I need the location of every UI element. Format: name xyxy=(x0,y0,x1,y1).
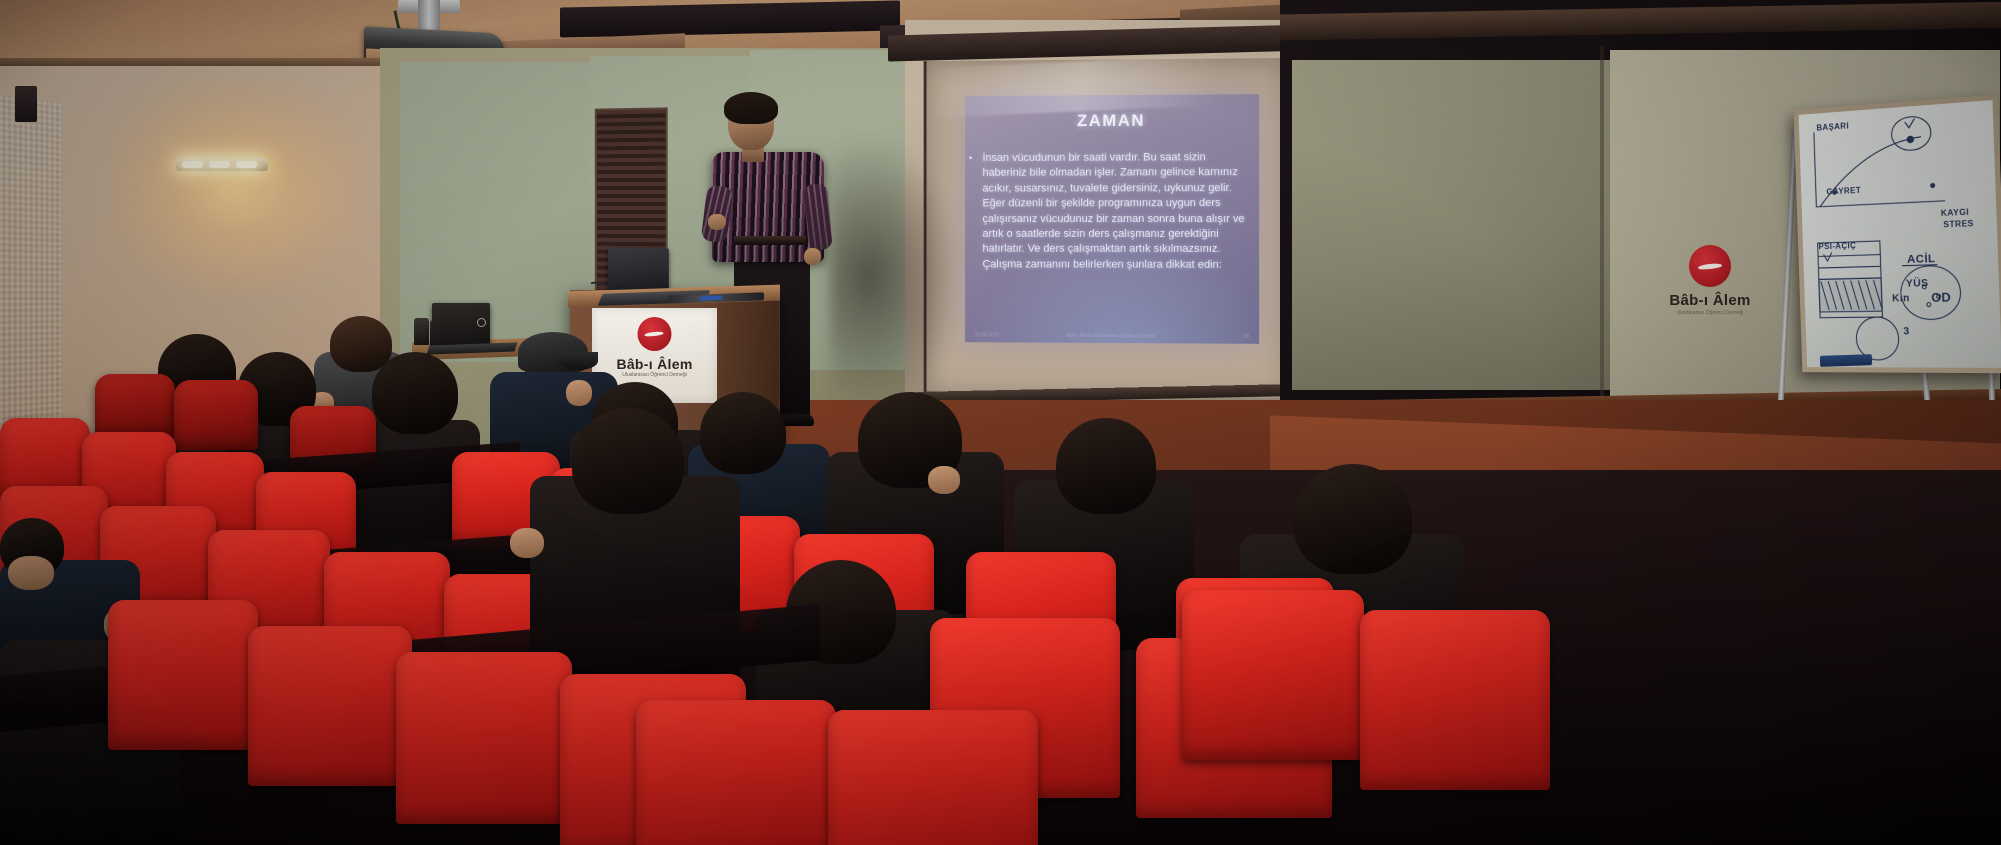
sconce-bulb-2 xyxy=(209,161,230,168)
board-label-3: 3 xyxy=(1903,326,1910,337)
amplifier-knob[interactable] xyxy=(477,318,486,327)
seat[interactable] xyxy=(396,652,572,824)
speaker-hair xyxy=(724,92,778,124)
seat[interactable] xyxy=(1182,590,1364,760)
seat[interactable] xyxy=(248,626,412,786)
speaker-shadow xyxy=(830,140,960,410)
audience-head-10 xyxy=(1056,418,1156,514)
wall-logo: Bâb-ı Âlem Uluslararası Öğrenci Derneği xyxy=(1655,245,1765,316)
wall-speaker xyxy=(15,86,37,122)
seat[interactable] xyxy=(636,700,836,845)
slide-bullet-marker: • xyxy=(969,153,972,164)
audience-hand-9 xyxy=(928,466,960,494)
mini-speaker-left xyxy=(414,318,429,345)
cap-brim-icon xyxy=(558,352,598,370)
slide-body-text: İnsan vücudunun bir saati vardır. Bu saa… xyxy=(982,150,1245,273)
wall-logo-name: Bâb-ı Âlem xyxy=(1655,292,1765,309)
wall-panel-1 xyxy=(400,62,590,362)
slide-footer-org: Bâb-ı Âlem Uluslararası Öğrenci Derneği xyxy=(1067,333,1156,339)
wall-trim-left xyxy=(0,58,400,66)
board-label-stres: STRES xyxy=(1943,219,1974,230)
bab-i-alem-mark-icon xyxy=(1689,245,1731,287)
sconce-bulb-3 xyxy=(236,161,257,168)
audience-head-11 xyxy=(1294,464,1412,574)
audience-hand-5 xyxy=(566,380,592,406)
audience-head-3 xyxy=(330,316,392,372)
wall-logo-subtitle: Uluslararası Öğrenci Derneği xyxy=(1655,310,1765,316)
sconce-glow xyxy=(110,78,365,293)
slide-page-number: 38 xyxy=(1244,334,1250,340)
wall-right-panel-1 xyxy=(1292,60,1622,390)
board-label-od: OD xyxy=(1931,290,1951,305)
slide-footer-date: 10.04.2010 xyxy=(975,332,999,338)
audience-hand-13 xyxy=(8,556,54,590)
marker-tray xyxy=(1820,354,1872,367)
podium-logo-name: Bâb-ı Âlem xyxy=(592,356,717,372)
auditorium-photo: ZAMAN • İnsan vücudunun bir saati vardır… xyxy=(0,0,2001,845)
seat[interactable] xyxy=(95,374,175,440)
board-label-acil: ACİL xyxy=(1907,253,1936,266)
board-label-gayret: GAYRET xyxy=(1826,186,1861,197)
seat[interactable] xyxy=(1360,610,1550,790)
audience-head-8 xyxy=(700,392,786,474)
seat[interactable] xyxy=(108,600,258,750)
audience-head-4 xyxy=(372,352,458,434)
board-label-yus: YÜS xyxy=(1906,278,1929,290)
board-label-kin: Kın xyxy=(1892,293,1910,305)
podium-bab-i-alem-mark-icon xyxy=(638,317,672,351)
presentation-slide: ZAMAN • İnsan vücudunun bir saati vardır… xyxy=(965,94,1259,344)
audience-hand-7 xyxy=(510,528,544,558)
whiteboard[interactable]: BAŞARI GAYRET KAYGI STRES PSI-AÇIÇ ACİL … xyxy=(1794,94,2001,373)
speaker-hand-left xyxy=(708,214,726,230)
seat[interactable] xyxy=(828,710,1038,845)
speaker-belt xyxy=(734,236,806,245)
board-label-kaygi: KAYGI xyxy=(1941,207,1970,218)
speaker-hand-right xyxy=(804,248,821,265)
podium-pen[interactable] xyxy=(700,296,722,301)
audience-head-7 xyxy=(572,408,684,514)
board-label-psi: PSI-AÇIÇ xyxy=(1818,241,1856,251)
seat[interactable] xyxy=(174,380,258,450)
whiteboard-sketch-icon xyxy=(1799,100,2001,368)
sconce-bulb-1 xyxy=(182,161,203,168)
